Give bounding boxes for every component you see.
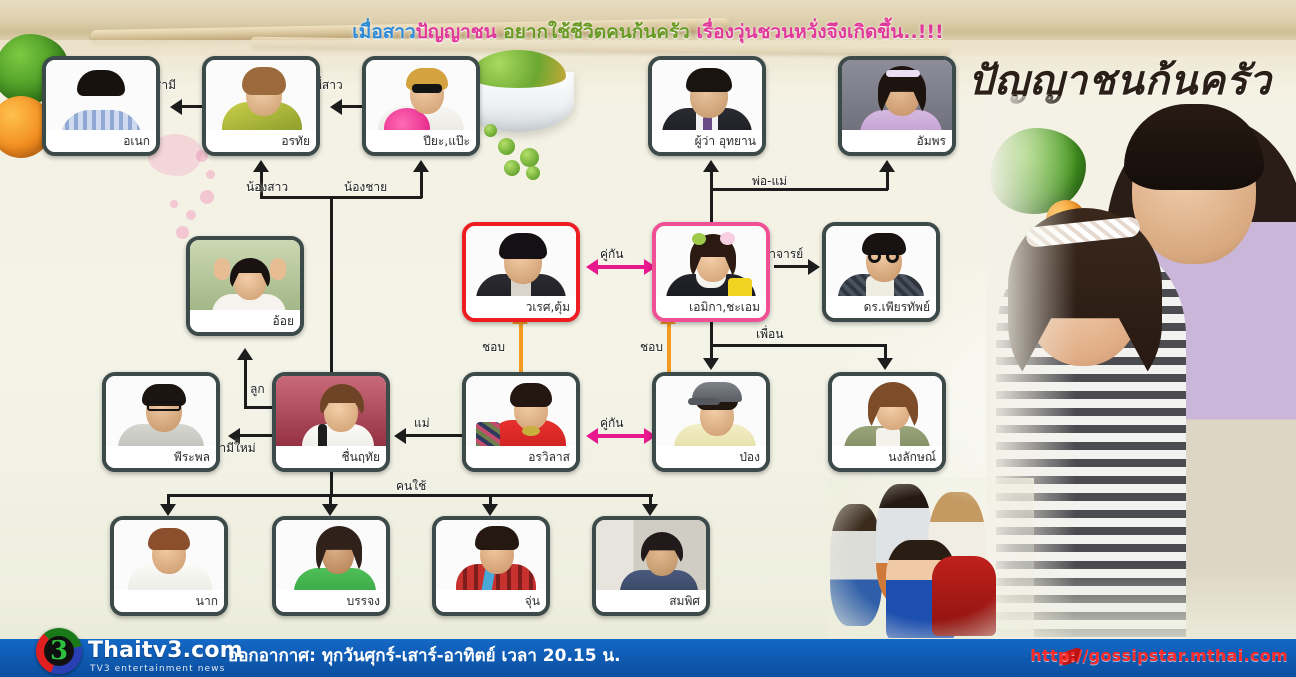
connector-servants-trunk	[330, 472, 333, 494]
cast-collage-photo	[828, 478, 1034, 638]
portrait-hair	[77, 70, 125, 96]
relation-label-koogan-2: คู่กัน	[600, 414, 624, 433]
character-photo	[596, 520, 706, 598]
portrait-flower-crown	[720, 232, 735, 245]
connector-orawilas-warate	[519, 324, 523, 374]
character-node-aemika[interactable]: เอมิกา,ชะเอม	[652, 222, 770, 322]
relation-label-koogan-1: คู่กัน	[600, 245, 624, 264]
character-name: อรวิลาส	[466, 446, 576, 468]
relation-label-nongchai: น้องชาย	[344, 178, 387, 197]
bubble-decoration	[170, 200, 178, 208]
connector-orawilas-pong	[598, 434, 646, 438]
character-photo	[190, 240, 300, 318]
arrowhead-down	[160, 504, 176, 516]
arrowhead-up	[879, 160, 895, 172]
character-node-dr-pianrathip[interactable]: ดร.เพียรทัพย์	[822, 222, 940, 322]
portrait-glasses	[886, 250, 899, 263]
character-name: อัมพร	[842, 130, 952, 152]
character-node-piya[interactable]: ปียะ,แป๊ะ	[362, 56, 480, 156]
character-name: ป่อง	[656, 446, 766, 468]
arrowhead-left-magenta	[586, 259, 598, 275]
character-photo	[436, 520, 546, 598]
arrowhead-up	[413, 160, 429, 172]
tagline-part-3: อยากใช้ชีวิตคนก้นครัว	[497, 21, 697, 43]
character-photo	[106, 376, 216, 454]
arrowhead-left	[394, 428, 406, 444]
character-node-chuenrutai[interactable]: ชื่นฤทัย	[272, 372, 390, 472]
connector-pong-aemika	[667, 324, 671, 374]
portrait-sunglasses	[412, 84, 442, 93]
arrowhead-up	[703, 160, 719, 172]
connector-chuenrutai-peerapon	[240, 434, 274, 437]
character-node-anek[interactable]: อเนก	[42, 56, 160, 156]
relation-label-look: ลูก	[250, 380, 265, 399]
pea-icon	[498, 138, 515, 155]
bubble-decoration	[176, 226, 189, 239]
portrait-necklace	[522, 426, 540, 436]
portrait-hair	[242, 67, 286, 95]
character-node-somphit[interactable]: สมพิศ	[592, 516, 710, 616]
connector-warate-aemika	[598, 265, 646, 269]
character-name: อ้อย	[190, 310, 300, 332]
character-name: พีระพล	[106, 446, 216, 468]
character-name: ปียะ,แป๊ะ	[366, 130, 476, 152]
connector-sibling-right	[420, 172, 423, 198]
character-photo	[842, 60, 952, 138]
connector-chuenrutai-oi	[244, 360, 247, 408]
tagline-part-4: เรื่องวุ่นชวนหวั่งจึงเกิดขึ้น..!!!	[696, 21, 943, 43]
portrait-flower-crown	[692, 233, 706, 245]
arrowhead-down	[703, 358, 719, 370]
collage-fade	[828, 478, 1034, 638]
character-name: อรทัย	[206, 130, 316, 152]
tagline: เมื่อสาวปัญญาชน อยากใช้ชีวิตคนก้นครัว เร…	[0, 20, 1296, 44]
hero-man-hair	[1124, 104, 1264, 190]
pea-icon	[504, 160, 520, 176]
character-photo	[276, 376, 386, 454]
brand-tagline: TV3 entertainment news	[90, 664, 225, 674]
portrait-cap-brim	[688, 398, 720, 405]
portrait-hair	[475, 526, 519, 550]
portrait-hand	[214, 258, 230, 280]
character-photo	[114, 520, 224, 598]
bubble-decoration	[206, 170, 215, 179]
character-node-amporn[interactable]: อัมพร	[838, 56, 956, 156]
character-name: ดร.เพียรทัพย์	[826, 296, 936, 318]
character-node-joon[interactable]: จุ่น	[432, 516, 550, 616]
tagline-part-2: ปัญญาชน	[416, 21, 497, 43]
relation-label-konchai: คนใช้	[396, 477, 426, 496]
character-photo	[206, 60, 316, 138]
character-node-nak[interactable]: นาก	[110, 516, 228, 616]
relation-label-chop-1: ชอบ	[482, 338, 505, 357]
arrowhead-down	[877, 358, 893, 370]
connector-aemika-up	[710, 188, 713, 224]
arrowhead-down	[482, 504, 498, 516]
watermark-url[interactable]: http://gossipstar.mthai.com	[1030, 646, 1288, 665]
character-photo	[466, 376, 576, 454]
portrait-glasses	[868, 250, 881, 263]
pea-icon	[520, 148, 539, 167]
logo-number: 3	[36, 628, 82, 674]
character-node-warate[interactable]: วเรศ,ตุ้ม	[462, 222, 580, 322]
arrowhead-down	[642, 504, 658, 516]
bubble-decoration	[186, 210, 196, 220]
arrowhead-down	[322, 504, 338, 516]
connector-orawilas-chuenrutai	[406, 434, 464, 437]
arrowhead-left	[170, 99, 182, 115]
portrait-hair	[510, 383, 552, 407]
character-node-banjong[interactable]: บรรจง	[272, 516, 390, 616]
character-name: เอมิกา,ชะเอม	[656, 296, 766, 318]
tagline-part-1: เมื่อสาว	[352, 21, 415, 43]
thaitv3-logo-icon[interactable]: 3	[36, 628, 82, 674]
bubble-decoration	[200, 190, 214, 204]
character-photo	[832, 376, 942, 454]
character-node-puwa[interactable]: ผู้ว่า อุทยาน	[648, 56, 766, 156]
character-photo	[466, 226, 576, 304]
character-photo	[276, 520, 386, 598]
brand-name[interactable]: Thaitv3.com	[88, 638, 243, 663]
portrait-headband	[886, 70, 920, 77]
character-name: นาก	[114, 590, 224, 612]
relation-label-pheuan: เพื่อน	[756, 325, 783, 344]
character-photo	[826, 226, 936, 304]
airtime-text: ออกอากาศ: ทุกวันศุกร์-เสาร์-อาทิตย์ เวลา…	[228, 642, 621, 669]
connector-friend-bar	[710, 344, 886, 347]
relation-label-chop-2: ชอบ	[640, 338, 663, 357]
portrait-glasses	[147, 401, 181, 411]
connector-trunk-sibling	[330, 196, 333, 374]
character-name: วเรศ,ตุ้ม	[466, 296, 576, 318]
portrait-hair	[499, 233, 547, 259]
character-photo	[656, 376, 766, 454]
character-photo	[656, 226, 766, 304]
relation-label-nongsao: น้องสาว	[246, 178, 288, 197]
character-photo	[46, 60, 156, 138]
character-node-nongluck[interactable]: นงลักษณ์	[828, 372, 946, 472]
pea-icon	[526, 166, 540, 180]
character-node-peerapon[interactable]: พีระพล	[102, 372, 220, 472]
character-photo	[652, 60, 762, 138]
relation-label-por-mae: พ่อ-แม่	[752, 172, 787, 191]
character-name: ชื่นฤทัย	[276, 446, 386, 468]
connector-parents-bar	[710, 188, 888, 191]
portrait-hand	[270, 258, 286, 280]
character-photo	[366, 60, 476, 138]
arrowhead-left-magenta	[586, 428, 598, 444]
character-node-orathai[interactable]: อรทัย	[202, 56, 320, 156]
portrait-hair	[686, 68, 732, 92]
connector-parent-right	[886, 172, 889, 190]
character-name: อเนก	[46, 130, 156, 152]
connector-parent-left	[710, 172, 713, 190]
relationship-chart-poster: เมื่อสาวปัญญาชน อยากใช้ชีวิตคนก้นครัว เร…	[0, 0, 1296, 677]
arrowhead-up	[237, 348, 253, 360]
arrowhead-up	[253, 160, 269, 172]
arrowhead-right	[808, 259, 820, 275]
character-name: ผู้ว่า อุทยาน	[652, 130, 762, 152]
character-name: จุ่น	[436, 590, 546, 612]
character-node-orawilas[interactable]: อรวิลาส	[462, 372, 580, 472]
character-name: บรรจง	[276, 590, 386, 612]
portrait-hair	[148, 528, 190, 550]
character-name: สมพิศ	[596, 590, 706, 612]
character-name: นงลักษณ์	[832, 446, 942, 468]
arrowhead-left	[330, 99, 342, 115]
character-node-oi[interactable]: อ้อย	[186, 236, 304, 336]
character-node-pong[interactable]: ป่อง	[652, 372, 770, 472]
relation-label-mae: แม่	[414, 414, 430, 433]
connector-aemika-down	[710, 322, 713, 344]
